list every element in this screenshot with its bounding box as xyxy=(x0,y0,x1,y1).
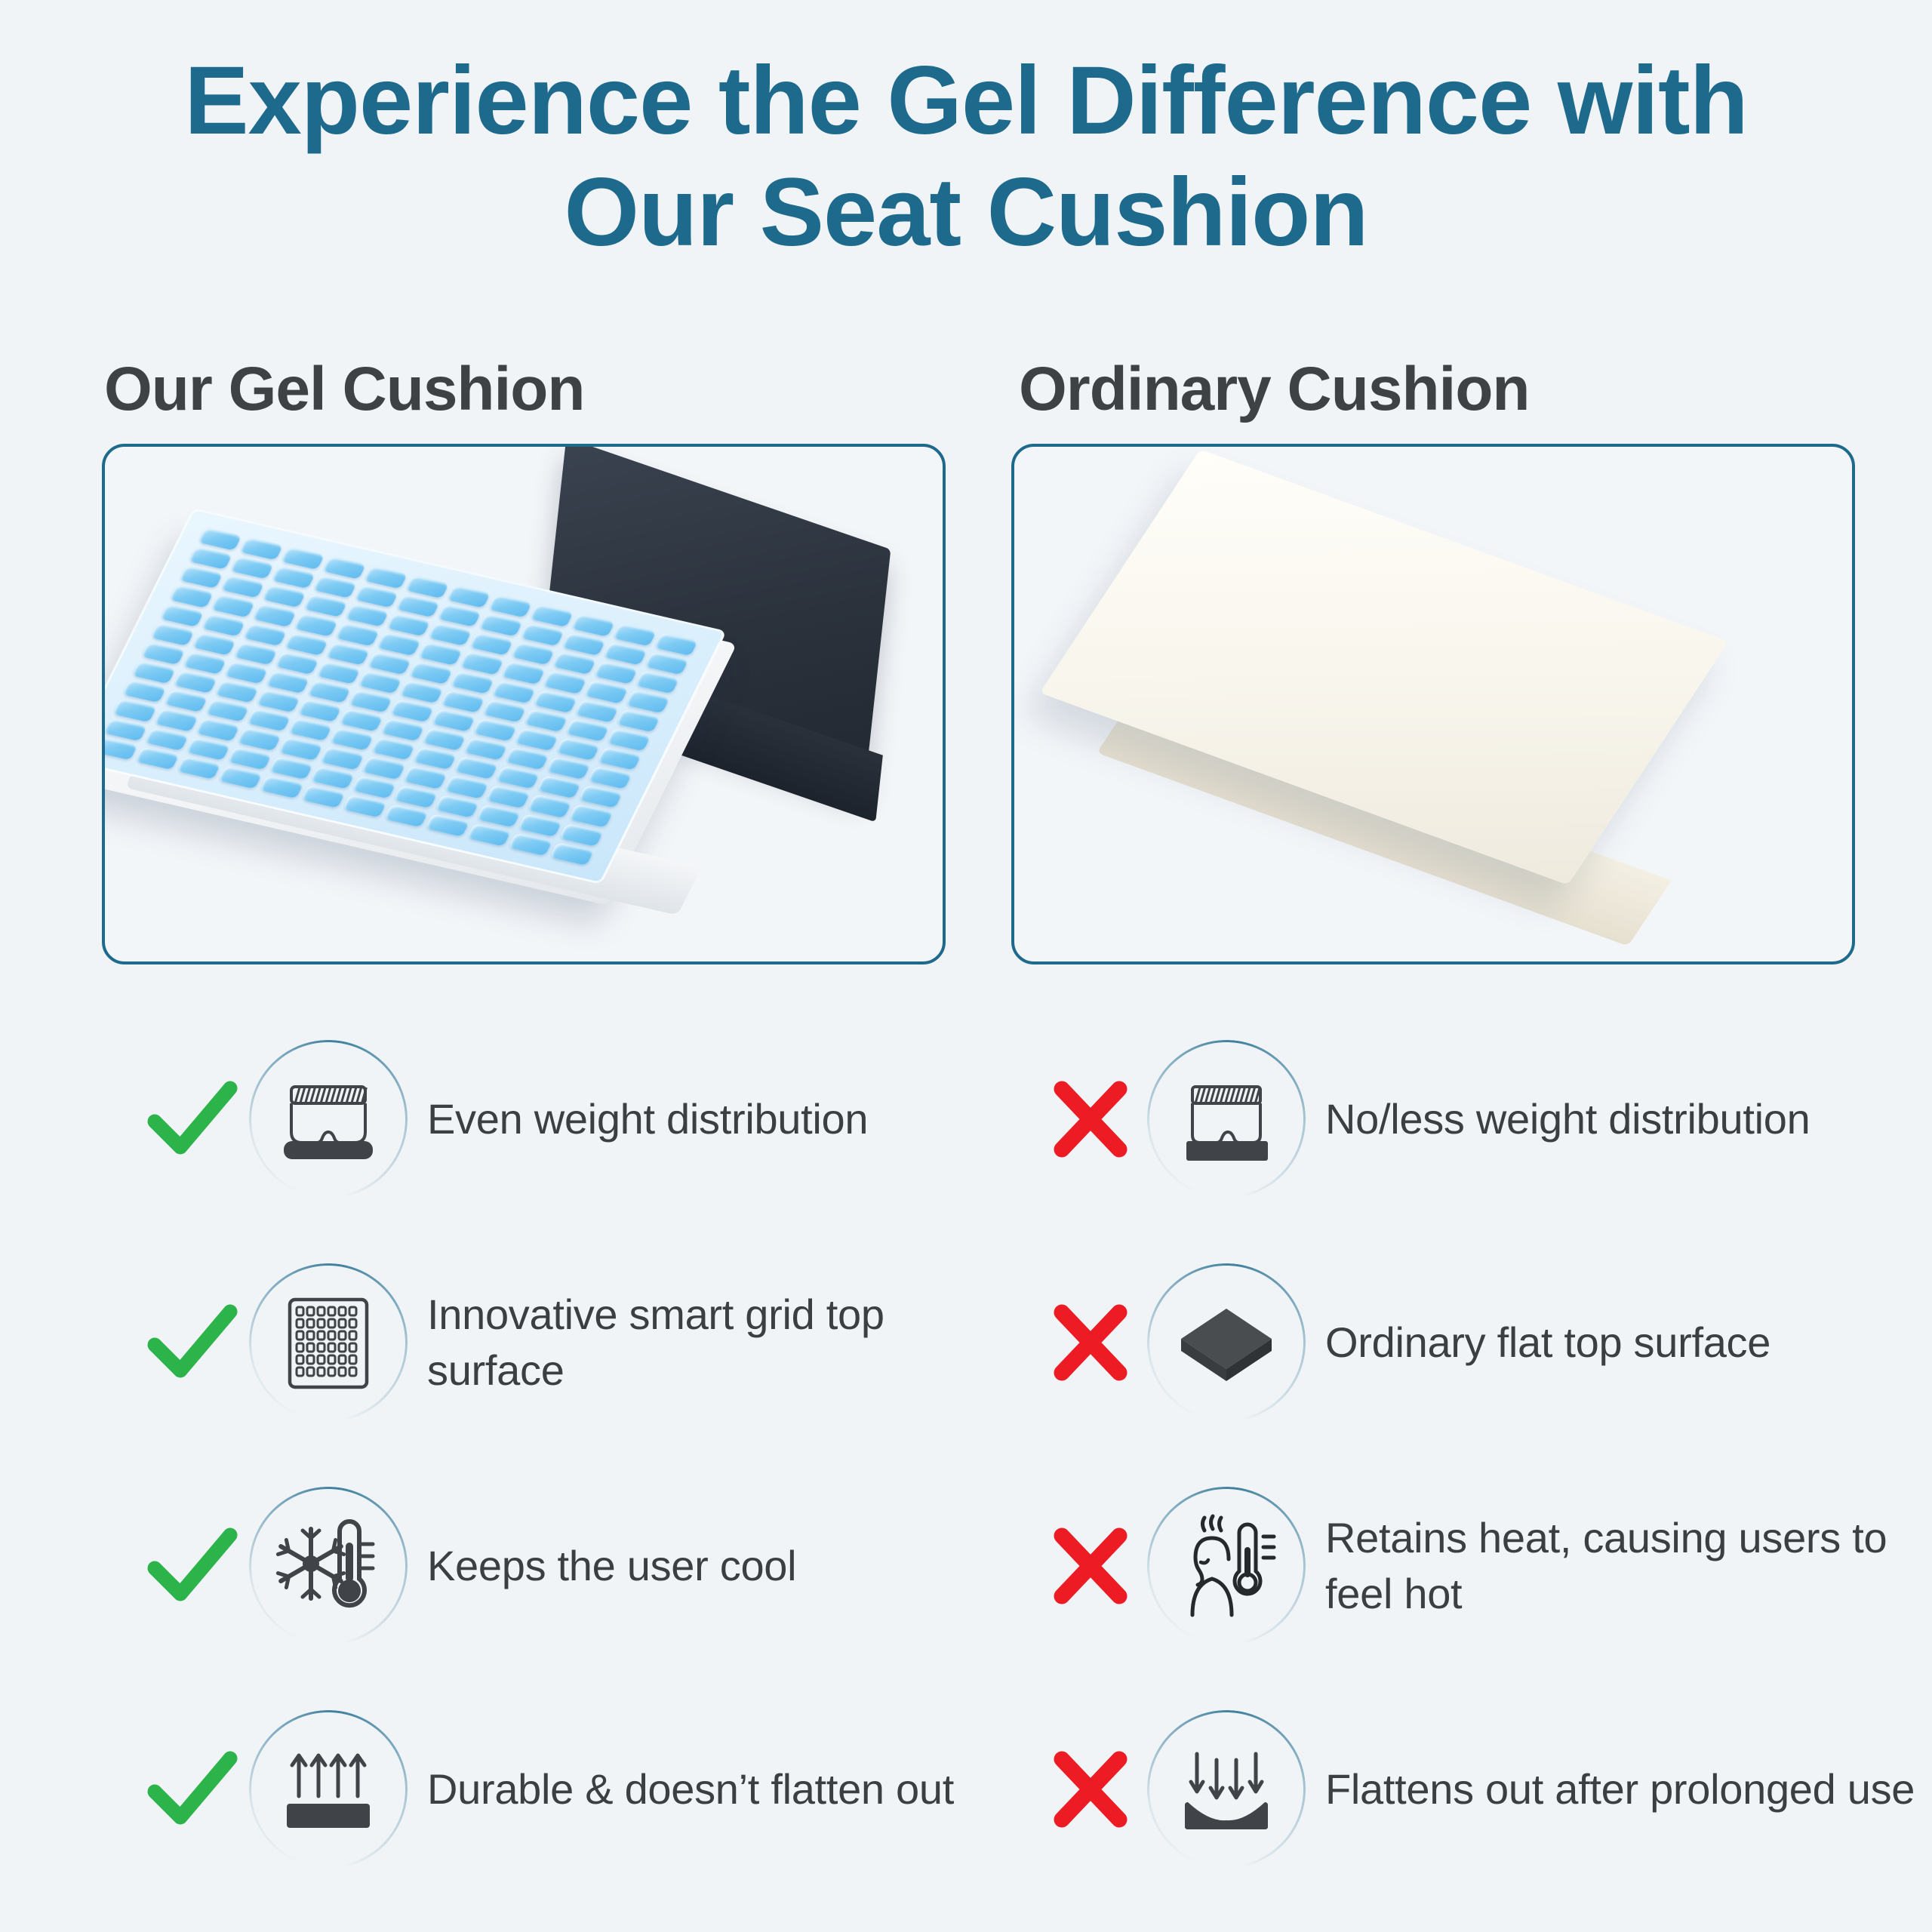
gel-nub xyxy=(584,680,629,703)
gel-nub xyxy=(188,546,232,570)
gel-nub xyxy=(389,699,434,722)
cross-mark xyxy=(1034,1303,1147,1382)
gel-nub xyxy=(399,680,444,703)
gel-nub xyxy=(463,737,508,761)
column-heading-our-gel-cushion: Our Gel Cushion xyxy=(104,355,584,424)
check-icon xyxy=(147,1301,238,1384)
feature-icon-badge xyxy=(1147,1710,1306,1869)
gel-nub xyxy=(533,690,577,713)
check-icon xyxy=(147,1524,238,1607)
gel-nub xyxy=(354,585,398,608)
gel-nub xyxy=(329,728,374,751)
gel-nub xyxy=(578,785,623,808)
gel-nub xyxy=(179,565,223,589)
gel-nub xyxy=(476,804,521,827)
ordinary-cushion-illustration xyxy=(1014,447,1852,961)
feature-label: Durable & doesn’t flatten out xyxy=(427,1761,954,1817)
gel-nub xyxy=(256,689,300,712)
gel-nub xyxy=(485,785,530,808)
feature-row: Even weight distribution xyxy=(136,1008,1026,1231)
gel-nub xyxy=(546,756,590,780)
gel-cushion-illustration xyxy=(105,447,943,961)
gel-nub xyxy=(237,728,281,751)
gel-nub xyxy=(435,794,479,817)
gel-nub xyxy=(427,623,472,646)
gel-nub xyxy=(303,594,347,617)
cushion-even-compression-icon xyxy=(272,1063,385,1176)
feature-icon-badge xyxy=(249,1487,408,1645)
gel-nub xyxy=(352,775,396,798)
gel-nub xyxy=(616,709,660,732)
gel-nub xyxy=(131,660,176,684)
gel-nub xyxy=(192,632,236,655)
gel-nub xyxy=(339,709,383,732)
gel-nub xyxy=(265,670,309,694)
gel-nub xyxy=(635,671,679,694)
gel-nub xyxy=(320,746,365,770)
gel-nub xyxy=(561,632,606,656)
gel-nub xyxy=(444,775,488,798)
feature-icon-badge xyxy=(249,1710,408,1869)
gel-nub xyxy=(555,737,600,761)
feature-label: Ordinary flat top surface xyxy=(1325,1315,1770,1371)
gel-nub xyxy=(288,718,332,741)
feature-row: Retains heat, causing users to feel hot xyxy=(1034,1454,1924,1678)
feature-icon-badge xyxy=(249,1040,408,1198)
gel-nub xyxy=(275,651,319,675)
gel-nub xyxy=(227,746,272,770)
feature-row: Innovative smart grid top surface xyxy=(136,1231,1026,1454)
gel-nub xyxy=(518,814,562,837)
feature-row: Ordinary flat top surface xyxy=(1034,1231,1924,1454)
gel-nub xyxy=(335,623,380,646)
page-title: Experience the Gel Difference with Our S… xyxy=(0,45,1932,269)
gel-nub xyxy=(603,642,648,666)
gel-nub xyxy=(606,728,651,751)
feature-label: Flattens out after prolonged use xyxy=(1325,1761,1915,1817)
gel-nub xyxy=(344,604,389,627)
feature-row: Flattens out after prolonged use xyxy=(1034,1678,1924,1901)
gel-nub xyxy=(242,623,287,646)
gel-nub xyxy=(173,670,217,694)
feature-icon-badge xyxy=(249,1263,408,1422)
gel-nub xyxy=(491,680,536,703)
gel-nub xyxy=(395,594,440,617)
gel-nub xyxy=(144,728,189,751)
gel-nub xyxy=(186,737,230,760)
gel-nub xyxy=(559,823,604,846)
gel-nub xyxy=(645,651,689,675)
gel-nub xyxy=(593,661,638,685)
gel-nub xyxy=(201,613,245,636)
gel-nub xyxy=(112,699,157,722)
gel-nub xyxy=(478,614,523,637)
gel-nub xyxy=(543,670,587,694)
gel-nub xyxy=(472,718,517,741)
gel-nub xyxy=(510,642,555,666)
gel-nub xyxy=(233,641,278,665)
gel-nub xyxy=(537,775,581,798)
gel-nub xyxy=(205,699,249,722)
cross-icon xyxy=(1051,1527,1130,1605)
product-card-gel-cushion xyxy=(102,444,946,964)
gel-nub xyxy=(454,756,498,780)
title-line-1: Experience the Gel Difference with xyxy=(0,45,1932,157)
gel-nub xyxy=(495,766,540,789)
feature-label: Keeps the user cool xyxy=(427,1538,796,1594)
gel-nub xyxy=(169,584,214,608)
gel-nub xyxy=(574,699,619,722)
gel-nub xyxy=(297,699,342,722)
gel-nub xyxy=(625,690,669,713)
feature-label: Retains heat, causing users to feel hot xyxy=(1325,1510,1924,1622)
cross-mark xyxy=(1034,1527,1147,1605)
gel-nub xyxy=(278,737,323,760)
gel-nub xyxy=(122,679,166,703)
gel-nub xyxy=(214,680,259,703)
gel-nub xyxy=(527,795,571,818)
gel-nub xyxy=(312,575,357,598)
gel-nub xyxy=(377,632,421,656)
gel-nub xyxy=(284,632,328,656)
gel-nub-grid xyxy=(102,528,698,866)
gel-nub xyxy=(460,651,504,675)
feature-list-gel: Even weight distribution Innovative smar… xyxy=(136,1008,1026,1901)
gel-nub xyxy=(504,746,549,770)
check-icon xyxy=(147,1078,238,1161)
feature-row: Keeps the user cool xyxy=(136,1454,1026,1678)
gel-nub xyxy=(229,555,274,579)
gel-layer-group xyxy=(114,497,714,940)
up-arrows-over-slab-icon xyxy=(272,1733,385,1846)
gel-nub xyxy=(294,613,338,636)
gel-nub xyxy=(565,718,609,742)
feature-label: Even weight distribution xyxy=(427,1091,868,1147)
title-line-2: Our Seat Cushion xyxy=(0,157,1932,269)
gel-nub xyxy=(163,689,208,712)
gel-nub xyxy=(252,604,297,627)
gel-nub xyxy=(182,651,226,675)
gel-nub xyxy=(422,728,466,751)
feature-icon-badge xyxy=(1147,1487,1306,1645)
feature-row: No/less weight distribution xyxy=(1034,1008,1924,1231)
gel-nub xyxy=(271,565,315,589)
cross-icon xyxy=(1051,1303,1130,1382)
gel-nub xyxy=(552,651,596,675)
check-mark xyxy=(136,1524,249,1607)
cross-mark xyxy=(1034,1080,1147,1158)
gel-nub xyxy=(261,584,306,608)
gel-nub xyxy=(246,709,291,732)
infographic-page: Experience the Gel Difference with Our S… xyxy=(0,0,1932,1932)
snowflake-thermometer-icon xyxy=(272,1509,385,1623)
grid-surface-icon xyxy=(272,1286,385,1399)
feature-row: Durable & doesn’t flatten out xyxy=(136,1678,1026,1901)
down-arrows-over-sagging-slab-icon xyxy=(1170,1733,1283,1846)
gel-nub xyxy=(403,765,448,789)
gel-nub xyxy=(103,718,147,741)
gel-nub xyxy=(316,660,361,684)
feature-list-ordinary: No/less weight distribution Ordinary fla… xyxy=(1034,1008,1924,1901)
gel-nub xyxy=(211,594,255,617)
gel-nub xyxy=(501,661,546,685)
gel-nub xyxy=(482,699,527,722)
gel-nub xyxy=(269,756,313,780)
gel-nub xyxy=(514,728,558,751)
gel-nub xyxy=(469,632,513,656)
product-card-ordinary-cushion xyxy=(1011,444,1855,964)
gel-nub xyxy=(393,785,438,808)
gel-nub xyxy=(154,708,198,731)
cross-mark xyxy=(1034,1750,1147,1829)
check-mark xyxy=(136,1301,249,1384)
gel-nub xyxy=(367,651,411,675)
check-mark xyxy=(136,1748,249,1831)
column-heading-ordinary-cushion: Ordinary Cushion xyxy=(1019,355,1530,424)
gel-nub xyxy=(412,746,457,770)
feature-icon-badge xyxy=(1147,1263,1306,1422)
gel-nub xyxy=(520,623,565,646)
gel-nub xyxy=(306,680,351,703)
gel-nub xyxy=(441,690,485,713)
gel-nub xyxy=(223,660,268,684)
gel-nub xyxy=(431,709,475,732)
gel-nub xyxy=(386,613,430,636)
gel-nub xyxy=(568,804,613,827)
gel-nub xyxy=(371,737,415,761)
cushion-flat-base-icon xyxy=(1170,1063,1283,1176)
gel-nub xyxy=(418,641,463,665)
gel-nub xyxy=(140,641,185,665)
gel-nub xyxy=(380,718,425,741)
gel-nub xyxy=(325,641,370,665)
check-icon xyxy=(147,1748,238,1831)
gel-nub xyxy=(524,709,568,732)
gel-nub xyxy=(348,689,392,712)
gel-nub xyxy=(220,575,264,598)
feature-label: No/less weight distribution xyxy=(1325,1091,1810,1147)
gel-nub xyxy=(150,623,195,646)
gel-nub xyxy=(437,604,481,627)
cross-icon xyxy=(1051,1750,1130,1829)
flat-isometric-slab-icon xyxy=(1170,1286,1283,1399)
feature-icon-badge xyxy=(1147,1040,1306,1198)
gel-nub xyxy=(195,718,240,741)
feature-label: Innovative smart grid top surface xyxy=(427,1287,1026,1398)
gel-nub xyxy=(310,765,355,789)
gel-nub xyxy=(358,670,402,694)
gel-nub xyxy=(597,747,641,771)
gel-nub xyxy=(587,766,632,789)
gel-nub xyxy=(159,604,204,627)
cross-icon xyxy=(1051,1080,1130,1158)
gel-nub xyxy=(408,661,453,685)
sweating-person-thermometer-icon xyxy=(1170,1509,1283,1623)
gel-nub xyxy=(450,670,494,694)
check-mark xyxy=(136,1078,249,1161)
gel-nub xyxy=(361,756,406,780)
